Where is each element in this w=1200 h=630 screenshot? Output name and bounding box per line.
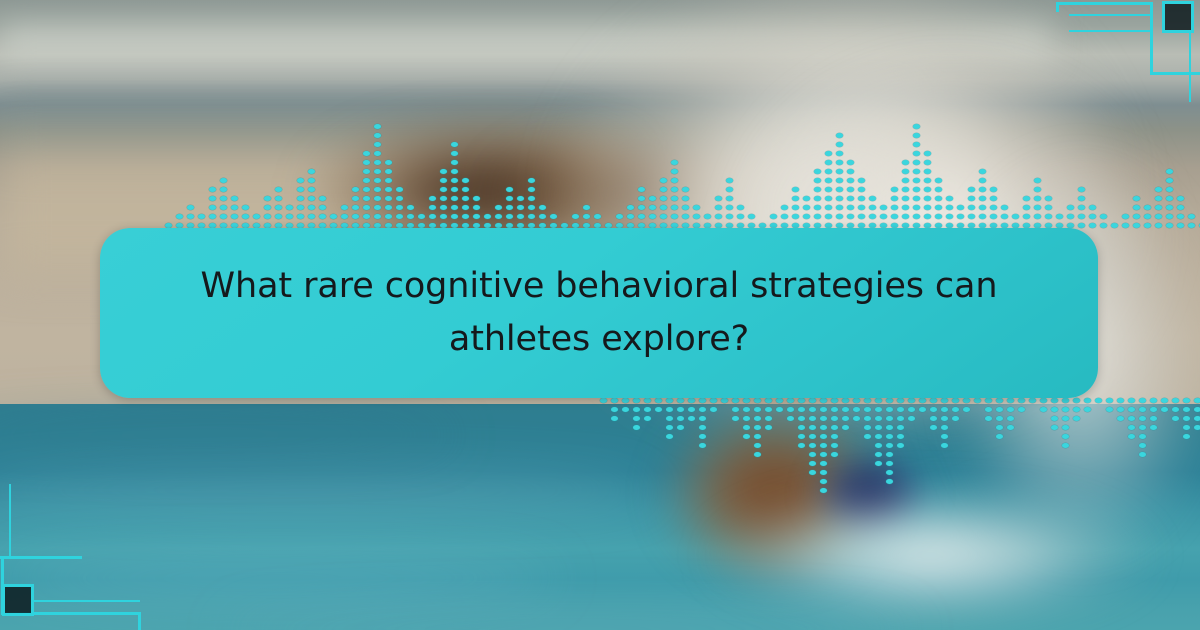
photo-water-stripe-2 [0,556,560,600]
frame-line-tr-h4 [1150,72,1200,75]
frame-line-tr-v2 [1189,30,1191,102]
frame-line-tr-h2 [1069,14,1153,16]
frame-line-bl-h3 [0,556,82,559]
frame-line-bl-h2 [34,600,140,602]
question-text: What rare cognitive behavioral strategie… [199,260,999,366]
frame-line-bl-v2 [9,484,11,558]
question-card: What rare cognitive behavioral strategie… [100,228,1098,398]
frame-line-bl-v0 [138,612,141,630]
frame-line-tr-v1 [1150,2,1153,74]
frame-square-bl [2,584,34,616]
frame-square-tr [1162,1,1194,33]
share-card-canvas: What rare cognitive behavioral strategie… [0,0,1200,630]
frame-line-tr-h3 [1069,30,1153,32]
photo-splash-foam [700,470,1180,630]
frame-line-tr-h1 [1056,2,1152,5]
frame-line-tr-v0 [1056,2,1059,12]
